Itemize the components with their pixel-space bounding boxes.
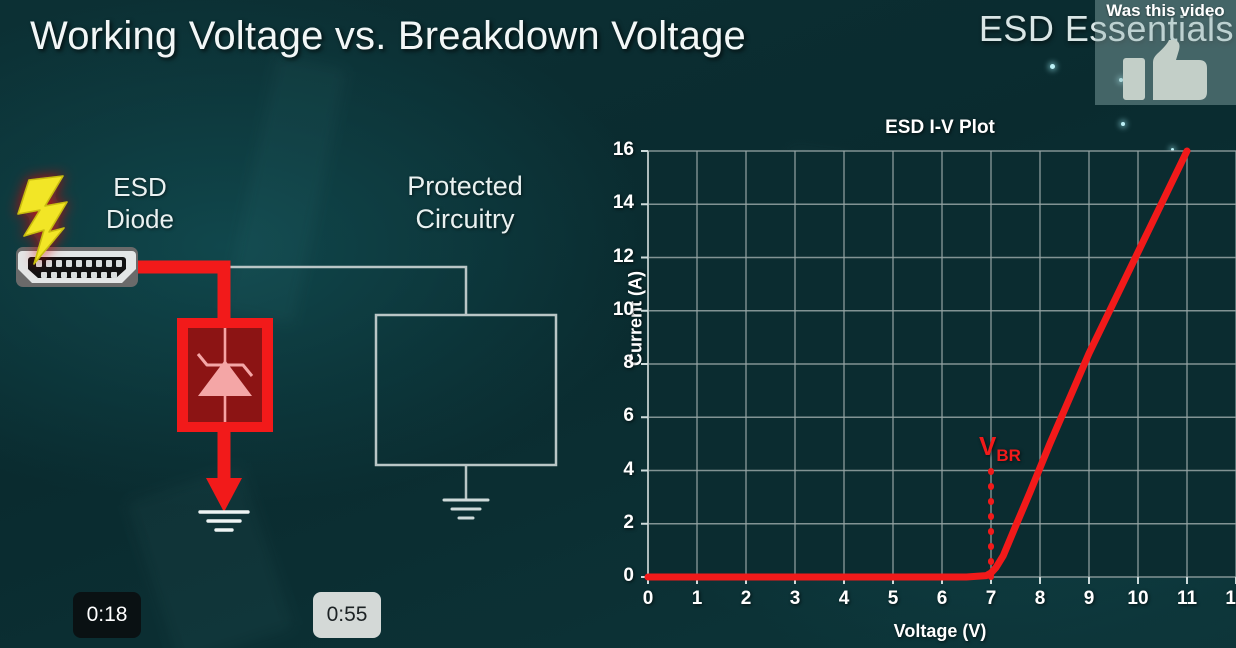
esd-iv-chart: ESD I-V Plot Current (A) Voltage (V) 024… — [580, 108, 1236, 648]
like-prompt-text: Was this video — [1106, 1, 1224, 21]
breakdown-voltage-annotation: VBR — [979, 431, 1021, 466]
page-title: Working Voltage vs. Breakdown Voltage — [30, 14, 746, 59]
protected-circuitry-box — [376, 315, 556, 465]
thumbs-up-icon[interactable] — [1123, 40, 1209, 102]
esd-diode-component — [177, 318, 273, 432]
protected-ground-symbol — [444, 500, 488, 518]
slide-canvas: Working Voltage vs. Breakdown Voltage ES… — [0, 0, 1236, 648]
timestamp-badge-right[interactable]: 0:55 — [313, 592, 381, 638]
vbr-sub-label: BR — [996, 446, 1021, 465]
esd-ground-symbol — [200, 512, 248, 530]
protected-circuitry-label-line1: Protected — [380, 170, 550, 203]
particle — [1050, 64, 1055, 69]
protected-circuitry-label-line2: Circuitry — [380, 203, 550, 236]
like-prompt-overlay[interactable]: Was this video — [1095, 0, 1236, 105]
esd-diode-label-line2: Diode — [85, 204, 195, 236]
timestamp-badge-left[interactable]: 0:18 — [73, 592, 141, 638]
vbr-main-label: V — [979, 431, 996, 461]
esd-diode-label: ESD Diode — [85, 172, 195, 235]
hdmi-connector — [16, 247, 138, 287]
chart-plot-area — [580, 108, 1236, 648]
protected-circuitry-label: Protected Circuitry — [380, 170, 550, 236]
esd-diode-label-line1: ESD — [85, 172, 195, 204]
